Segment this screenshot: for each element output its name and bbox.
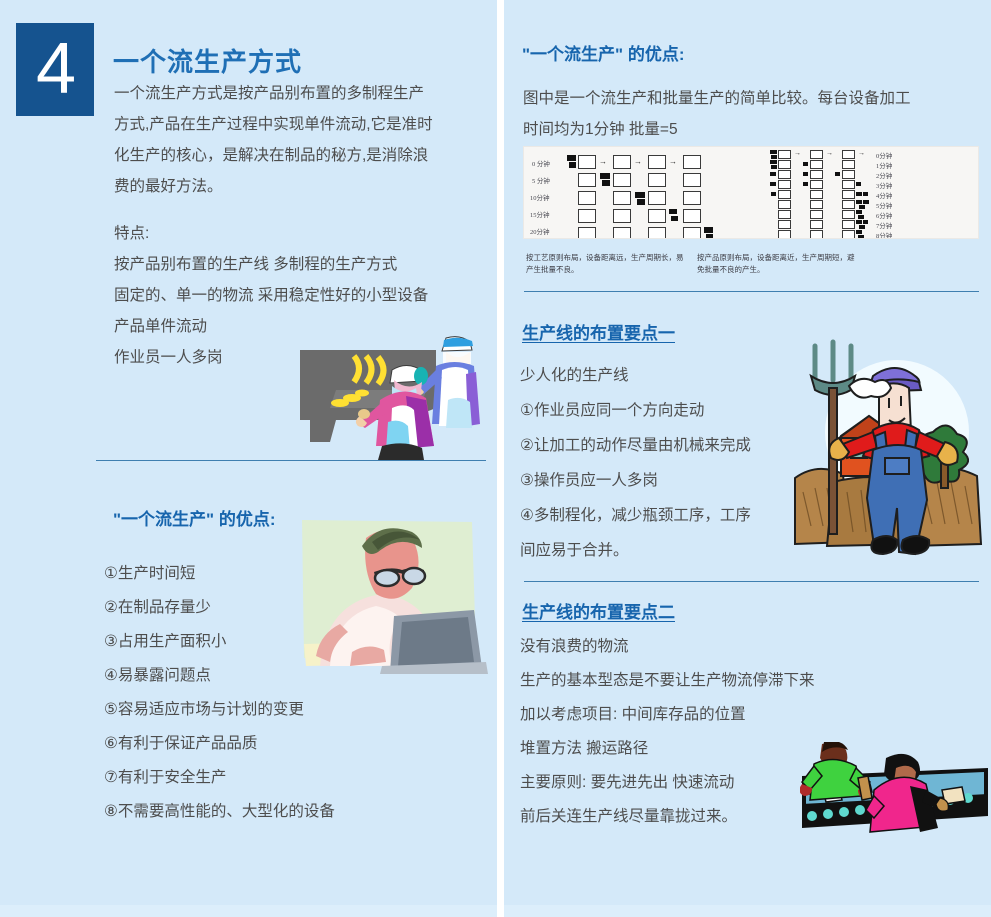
diagram-right-half: 0分钟 1分钟 2分钟 3分钟 4分钟 5分钟 6分钟 7分钟 8分钟 → → … bbox=[760, 147, 979, 238]
diagram-cell bbox=[648, 209, 666, 223]
diagram-batch-blob bbox=[637, 199, 645, 205]
right-tick-label: 5分钟 bbox=[876, 200, 892, 210]
point-one-line: ①作业员应同一个方向走动 bbox=[520, 393, 820, 428]
diagram-batch-blob bbox=[569, 162, 576, 168]
intro-line: 方式,产品在生产过程中实现单件流动,它是准时 bbox=[114, 109, 494, 140]
diagram-cell bbox=[683, 155, 701, 169]
diagram-batch-blob bbox=[706, 234, 713, 239]
diagram-cell bbox=[810, 190, 823, 199]
feature-line: 固定的、单一的物流 采用稳定性好的小型设备 bbox=[114, 280, 494, 311]
diagram-cell bbox=[613, 191, 631, 205]
section-number-badge: 4 bbox=[16, 23, 94, 116]
advantages-heading-right: "一个流生产" 的优点: bbox=[522, 40, 685, 65]
comparison-line: 图中是一个流生产和批量生产的简单比较。每台设备加工 bbox=[523, 83, 983, 114]
diagram-unit-blob bbox=[858, 215, 864, 219]
right-tick-label: 6分钟 bbox=[876, 210, 892, 220]
diagram-cell bbox=[810, 210, 823, 219]
diagram-cell bbox=[842, 230, 855, 239]
diagram-unit-blob bbox=[803, 162, 808, 166]
diagram-unit-blob bbox=[771, 192, 776, 196]
left-tick-label: 15分钟 bbox=[530, 209, 550, 219]
right-tick-label: 0分钟 bbox=[876, 150, 892, 160]
diagram-cell bbox=[683, 227, 701, 239]
farmer-with-pitchfork-illustration bbox=[793, 332, 989, 560]
point-two-line: 加以考虑项目: 中间库存品的位置 bbox=[520, 698, 990, 732]
page-title: 一个流生产方式 bbox=[113, 42, 302, 79]
diagram-unit-blob bbox=[770, 172, 776, 176]
diagram-unit-blob bbox=[770, 182, 776, 186]
left-tick-label: 20分钟 bbox=[530, 226, 550, 236]
advantage-item: ⑥有利于保证产品品质 bbox=[104, 727, 494, 761]
diagram-cell bbox=[578, 191, 596, 205]
diagram-cell bbox=[613, 173, 631, 187]
diagram-arrow-icon: → bbox=[599, 158, 607, 166]
diagram-unit-blob bbox=[770, 150, 777, 154]
diagram-cell bbox=[810, 170, 823, 179]
advantage-item: ⑧不需要高性能的、大型化的设备 bbox=[104, 795, 494, 829]
point-one-heading: 生产线的布置要点一 bbox=[522, 319, 675, 344]
section-number: 4 bbox=[36, 29, 74, 109]
left-column-divider bbox=[96, 460, 486, 461]
diagram-arrow-icon: → bbox=[858, 150, 865, 157]
diagram-cell bbox=[842, 190, 855, 199]
diagram-right-caption: 按产品原则布局，设备距离近，生产周期短，避免批量不良的产生。 bbox=[697, 252, 857, 276]
diagram-cell bbox=[778, 200, 791, 209]
diagram-cell bbox=[683, 191, 701, 205]
diagram-cell bbox=[578, 209, 596, 223]
diagram-unit-blob bbox=[835, 172, 840, 176]
point-one-line: ③操作员应一人多岗 bbox=[520, 463, 820, 498]
diagram-cell bbox=[683, 173, 701, 187]
diagram-unit-blob bbox=[856, 220, 862, 224]
diagram-batch-blob bbox=[671, 216, 678, 221]
diagram-arrow-icon: → bbox=[669, 158, 677, 166]
point-one-line: ②让加工的动作尽量由机械来完成 bbox=[520, 428, 820, 463]
diagram-cell bbox=[810, 230, 823, 239]
diagram-cell bbox=[778, 170, 791, 179]
left-tick-label: 0 分钟 bbox=[532, 158, 550, 168]
diagram-batch-blob bbox=[600, 173, 610, 179]
diagram-unit-blob bbox=[858, 235, 864, 239]
diagram-cell bbox=[613, 227, 631, 239]
diagram-cell bbox=[842, 170, 855, 179]
assembly-line-workers-illustration bbox=[800, 742, 988, 860]
diagram-unit-blob bbox=[859, 225, 865, 229]
point-one-list: 少人化的生产线 ①作业员应同一个方向走动 ②让加工的动作尽量由机械来完成 ③操作… bbox=[520, 358, 820, 568]
diagram-cell bbox=[778, 150, 791, 159]
right-tick-label: 7分钟 bbox=[876, 220, 892, 230]
diagram-cell bbox=[578, 227, 596, 239]
process-comparison-diagram: 0 分钟 5 分钟 10分钟 15分钟 20分钟 → → → bbox=[523, 146, 979, 239]
diagram-arrow-icon: → bbox=[794, 150, 801, 157]
diagram-unit-blob bbox=[863, 220, 868, 224]
advantage-item: ⑤容易适应市场与计划的变更 bbox=[104, 693, 494, 727]
diagram-unit-blob bbox=[771, 165, 777, 169]
point-two-line: 没有浪费的物流 bbox=[520, 630, 990, 664]
diagram-cell bbox=[842, 200, 855, 209]
diagram-unit-blob bbox=[803, 182, 808, 186]
left-column-bottom-strip bbox=[0, 905, 497, 917]
advantage-item: ⑦有利于安全生产 bbox=[104, 761, 494, 795]
factory-workers-illustration bbox=[296, 330, 496, 460]
right-tick-label: 4分钟 bbox=[876, 190, 892, 200]
right-column-bottom-strip bbox=[504, 905, 991, 917]
diagram-cell bbox=[778, 220, 791, 229]
diagram-cell bbox=[842, 220, 855, 229]
diagram-cell bbox=[810, 220, 823, 229]
diagram-cell bbox=[810, 180, 823, 189]
diagram-arrow-icon: → bbox=[826, 150, 833, 157]
point-two-heading: 生产线的布置要点二 bbox=[522, 598, 675, 623]
feature-line: 按产品别布置的生产线 多制程的生产方式 bbox=[114, 249, 494, 280]
diagram-batch-blob bbox=[567, 155, 576, 161]
diagram-left-caption: 按工艺原则布局，设备距离远，生产周期长，易产生批量不良。 bbox=[526, 252, 686, 276]
diagram-cell bbox=[810, 200, 823, 209]
intro-line: 一个流生产方式是按产品别布置的多制程生产 bbox=[114, 78, 494, 109]
right-tick-label: 3分钟 bbox=[876, 180, 892, 190]
diagram-cell bbox=[842, 210, 855, 219]
diagram-unit-blob bbox=[856, 210, 862, 214]
right-column-divider-one bbox=[524, 291, 979, 292]
diagram-cell bbox=[810, 150, 823, 159]
diagram-left-half: 0 分钟 5 分钟 10分钟 15分钟 20分钟 → → → bbox=[524, 147, 760, 238]
left-tick-label: 10分钟 bbox=[530, 192, 550, 202]
diagram-unit-blob bbox=[803, 172, 808, 176]
point-one-line: ④多制程化，减少瓶颈工序，工序 bbox=[520, 498, 820, 533]
diagram-unit-blob bbox=[856, 192, 862, 196]
diagram-unit-blob bbox=[856, 182, 861, 186]
diagram-cell bbox=[778, 180, 791, 189]
left-tick-label: 5 分钟 bbox=[532, 175, 550, 185]
diagram-batch-blob bbox=[602, 180, 610, 186]
advantages-heading-left: "一个流生产" 的优点: bbox=[113, 505, 276, 530]
diagram-cell bbox=[648, 191, 666, 205]
diagram-cell bbox=[648, 227, 666, 239]
diagram-cell bbox=[778, 230, 791, 239]
point-two-line: 生产的基本型态是不要让生产物流停滞下来 bbox=[520, 664, 990, 698]
diagram-unit-blob bbox=[859, 205, 865, 209]
features-label: 特点: bbox=[114, 218, 149, 249]
diagram-cell bbox=[778, 160, 791, 169]
diagram-batch-blob bbox=[635, 192, 645, 198]
diagram-unit-blob bbox=[856, 230, 862, 234]
right-tick-label: 2分钟 bbox=[876, 170, 892, 180]
diagram-cell bbox=[778, 210, 791, 219]
right-column-divider-two bbox=[524, 581, 979, 582]
diagram-unit-blob bbox=[771, 155, 777, 159]
intro-line: 费的最好方法。 bbox=[114, 171, 494, 202]
diagram-cell bbox=[578, 173, 596, 187]
diagram-unit-blob bbox=[863, 200, 869, 204]
man-at-computer-illustration bbox=[286, 516, 494, 674]
comparison-line: 时间均为1分钟 批量=5 bbox=[523, 114, 983, 145]
right-tick-label: 8分钟 bbox=[876, 230, 892, 239]
diagram-cell bbox=[578, 155, 596, 169]
diagram-cell bbox=[842, 150, 855, 159]
right-tick-label: 1分钟 bbox=[876, 160, 892, 170]
diagram-cell bbox=[683, 209, 701, 223]
diagram-cell bbox=[613, 209, 631, 223]
intro-line: 化生产的核心，是解决在制品的秘方,是消除浪 bbox=[114, 140, 494, 171]
diagram-cell bbox=[842, 180, 855, 189]
diagram-batch-blob bbox=[704, 227, 713, 233]
diagram-cell bbox=[842, 160, 855, 169]
point-one-line: 间应易于合并。 bbox=[520, 533, 820, 568]
diagram-unit-blob bbox=[770, 160, 777, 164]
diagram-cell bbox=[613, 155, 631, 169]
diagram-unit-blob bbox=[863, 192, 868, 196]
diagram-cell bbox=[648, 173, 666, 187]
diagram-unit-blob bbox=[856, 200, 862, 204]
diagram-arrow-icon: → bbox=[634, 158, 642, 166]
slide-page: 4 一个流生产方式 一个流生产方式是按产品别布置的多制程生产 方式,产品在生产过… bbox=[0, 0, 991, 917]
diagram-batch-blob bbox=[669, 209, 677, 214]
diagram-cell bbox=[810, 160, 823, 169]
intro-paragraph: 一个流生产方式是按产品别布置的多制程生产 方式,产品在生产过程中实现单件流动,它… bbox=[114, 78, 494, 202]
point-one-line: 少人化的生产线 bbox=[520, 358, 820, 393]
comparison-paragraph: 图中是一个流生产和批量生产的简单比较。每台设备加工 时间均为1分钟 批量=5 bbox=[523, 83, 983, 145]
diagram-cell bbox=[648, 155, 666, 169]
diagram-cell bbox=[778, 190, 791, 199]
